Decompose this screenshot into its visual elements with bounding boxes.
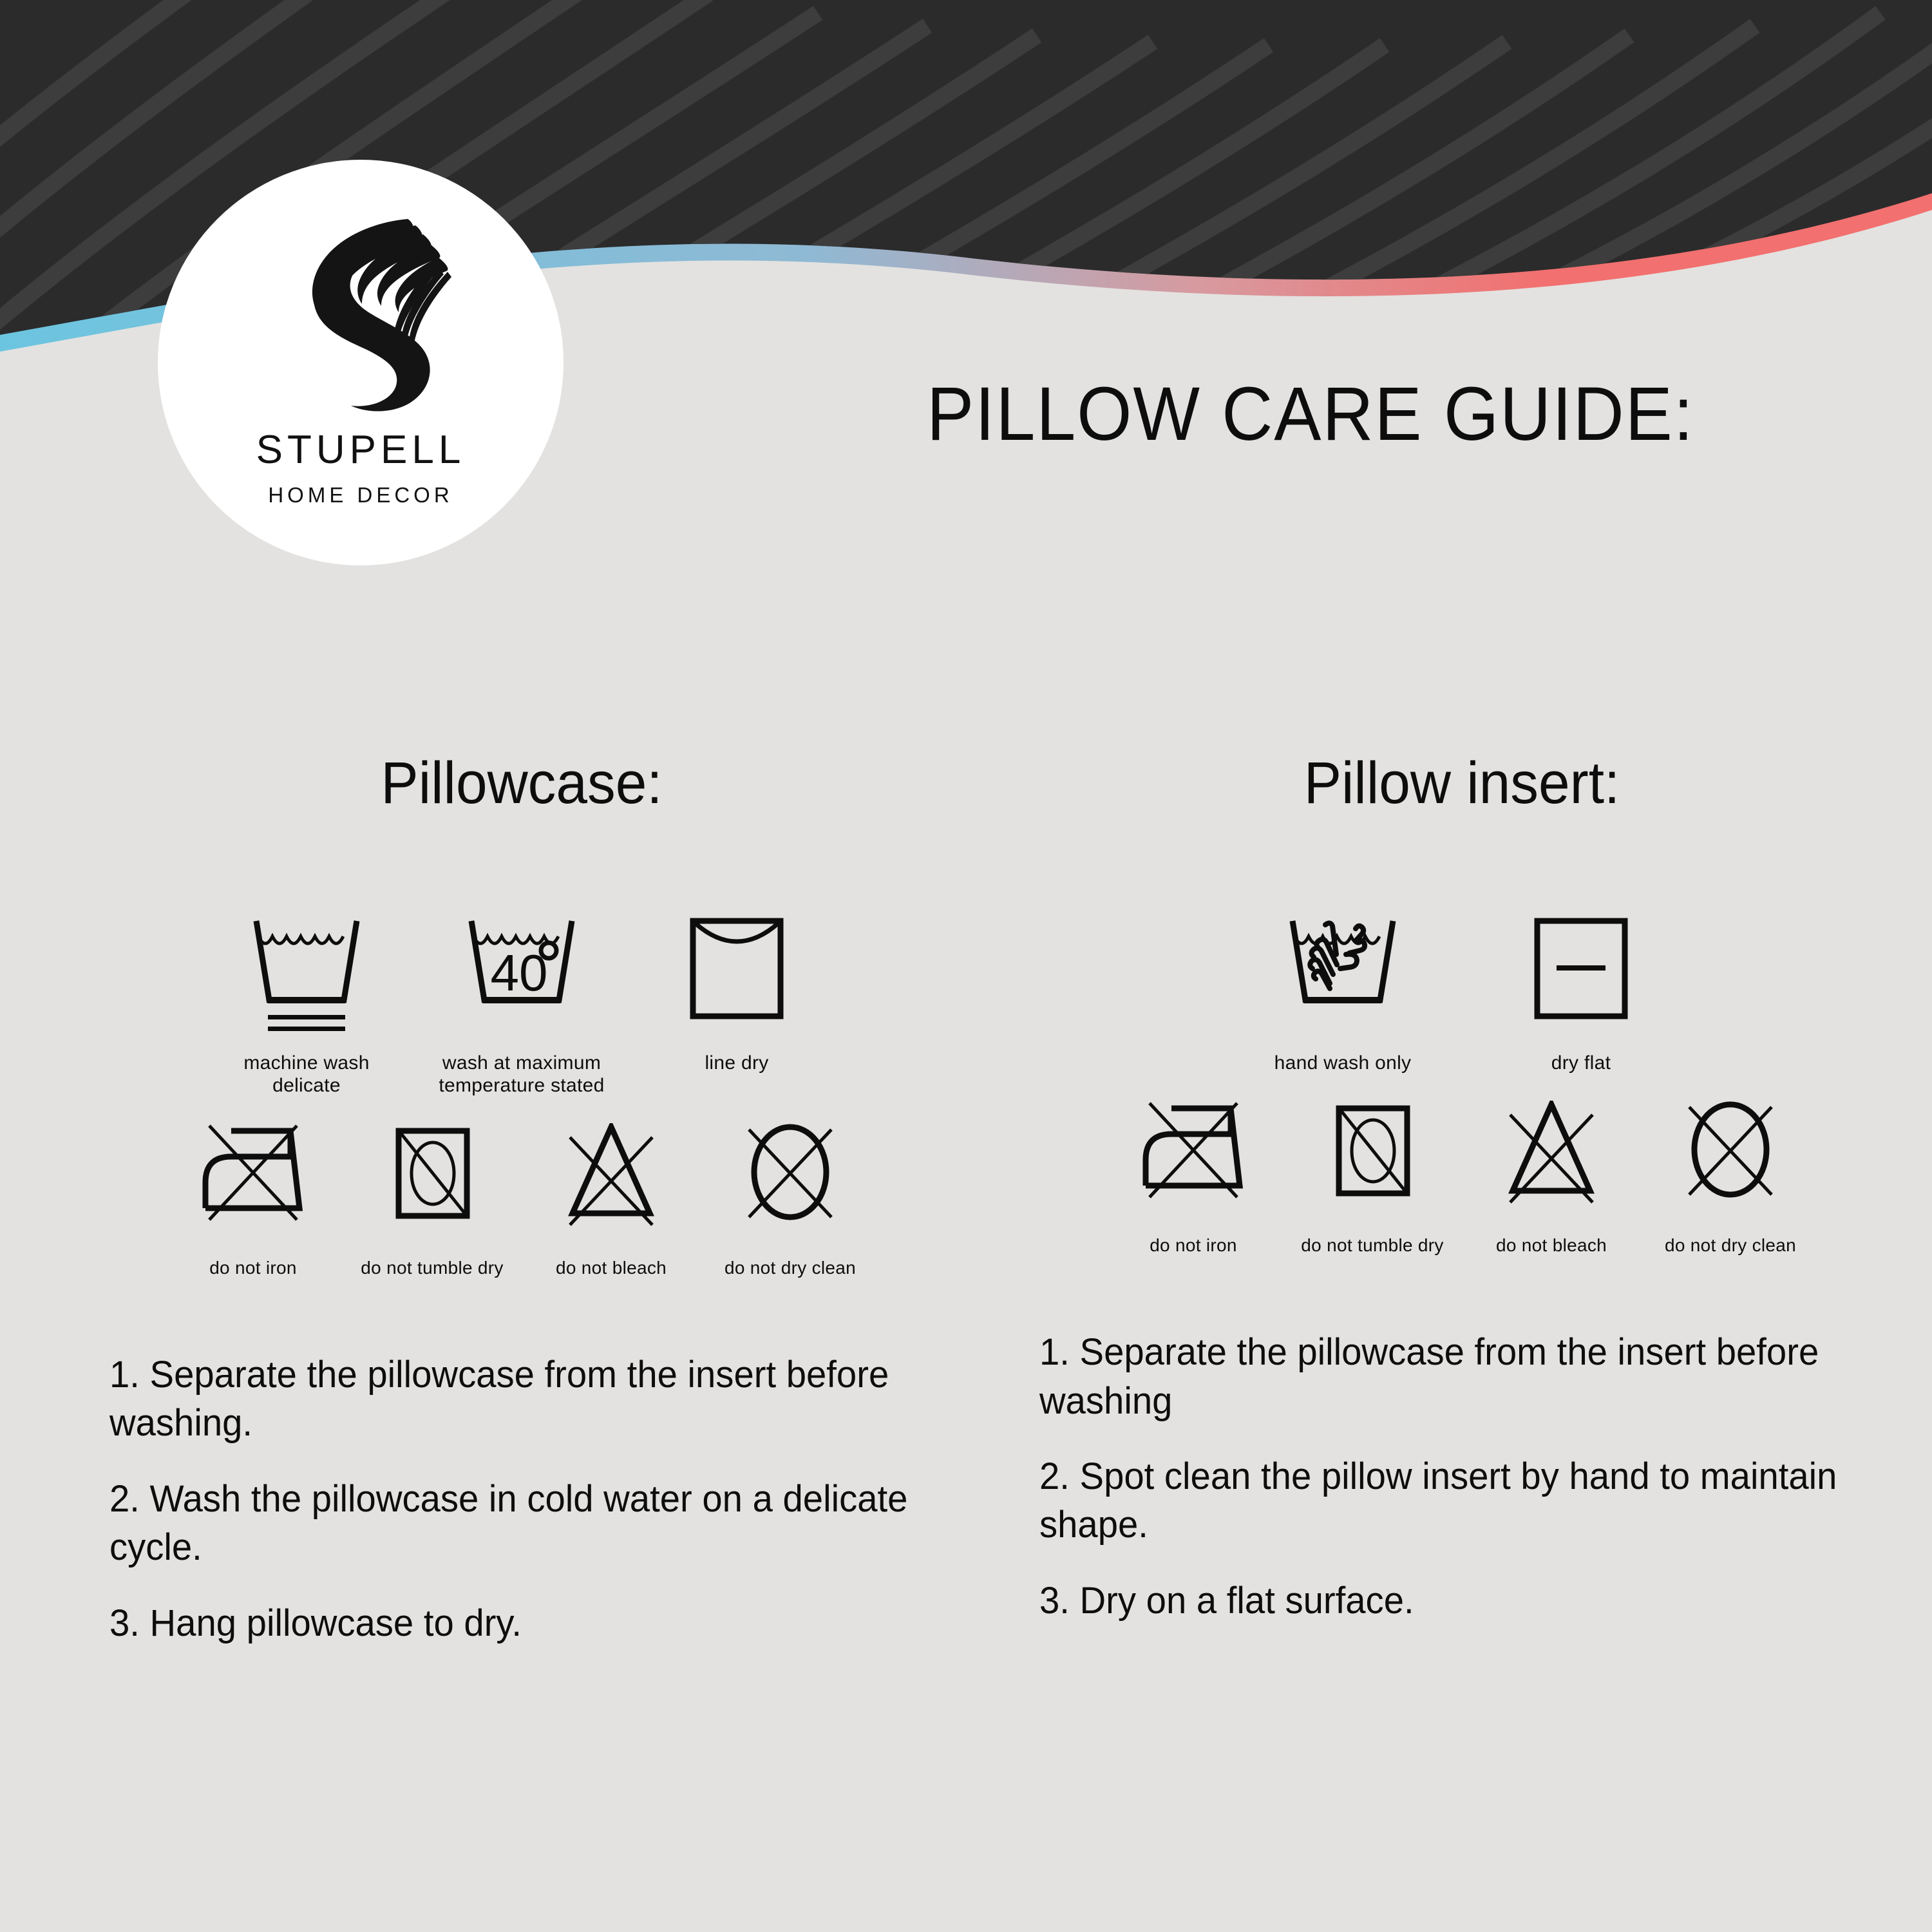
symbol-machine-wash-delicate: machine washdelicate xyxy=(216,914,397,1097)
do-not-dry-clean-icon xyxy=(1671,1101,1790,1226)
do-not-dry-clean-icon xyxy=(731,1123,850,1249)
symbol-caption: do not tumble dry xyxy=(361,1258,503,1278)
pillow-care-guide-page: STUPELL HOME DECOR PILLOW CARE GUIDE: Pi… xyxy=(0,0,1932,1932)
do-not-bleach-icon xyxy=(552,1123,671,1249)
symbol-do-not-tumble-dry: do not tumble dry xyxy=(1292,1101,1453,1256)
brand-wordmark: STUPELL HOME DECOR xyxy=(158,430,563,506)
symbol-caption: do not dry clean xyxy=(724,1258,856,1278)
instruction-item: 2. Wash the pillowcase in cold water on … xyxy=(109,1475,915,1572)
symbol-caption: hand wash only xyxy=(1274,1052,1412,1075)
symbol-row-secondary: do not iron do not tumble dry xyxy=(1030,1101,1893,1256)
instruction-list: 1. Separate the pillowcase from the inse… xyxy=(103,1350,940,1647)
symbol-caption: do not tumble dry xyxy=(1301,1235,1443,1256)
symbol-do-not-dry-clean: do not dry clean xyxy=(1650,1101,1811,1256)
symbol-do-not-iron: do not iron xyxy=(173,1123,334,1278)
brand-logo-badge: STUPELL HOME DECOR xyxy=(158,160,563,565)
symbol-grid: hand wash only dry flat xyxy=(1030,914,1893,1256)
dry-flat-icon xyxy=(1517,914,1645,1043)
brand-tagline: HOME DECOR xyxy=(158,484,563,506)
symbol-caption: do not dry clean xyxy=(1665,1235,1796,1256)
symbol-caption: do not iron xyxy=(209,1258,297,1278)
do-not-bleach-icon xyxy=(1492,1101,1611,1226)
symbol-caption: line dry xyxy=(705,1052,768,1075)
instruction-item: 1. Separate the pillowcase from the inse… xyxy=(1039,1328,1868,1425)
symbol-do-not-bleach: do not bleach xyxy=(531,1123,692,1278)
do-not-iron-icon xyxy=(194,1123,313,1249)
line-dry-icon xyxy=(672,914,801,1043)
symbol-do-not-tumble-dry: do not tumble dry xyxy=(352,1123,513,1278)
symbol-caption: do not iron xyxy=(1150,1235,1237,1256)
brand-name: STUPELL xyxy=(158,430,563,470)
symbol-caption: do not bleach xyxy=(556,1258,667,1278)
stupell-swoosh-logo-icon xyxy=(254,210,467,422)
care-column-pillowcase: Pillowcase: xyxy=(103,753,940,1674)
symbol-row-primary: machine washdelicate 40 xyxy=(103,914,940,1097)
page-title: PILLOW CARE GUIDE: xyxy=(844,370,1778,458)
column-heading: Pillowcase: xyxy=(124,753,920,831)
instruction-list: 1. Separate the pillowcase from the inse… xyxy=(1030,1328,1893,1625)
do-not-iron-icon xyxy=(1134,1101,1253,1226)
do-not-tumble-dry-icon xyxy=(373,1123,492,1249)
symbol-line-dry: line dry xyxy=(647,914,827,1075)
symbol-caption: machine washdelicate xyxy=(243,1052,369,1097)
symbol-do-not-dry-clean: do not dry clean xyxy=(710,1123,871,1278)
symbol-caption: dry flat xyxy=(1551,1052,1611,1075)
symbol-hand-wash-only: hand wash only xyxy=(1253,914,1433,1075)
symbol-wash-40-degrees: 40 wash at maximumtemperature stated xyxy=(431,914,612,1097)
symbol-grid: machine washdelicate 40 xyxy=(103,914,940,1278)
do-not-tumble-dry-icon xyxy=(1313,1101,1432,1226)
symbol-do-not-bleach: do not bleach xyxy=(1471,1101,1632,1256)
column-heading: Pillow insert: xyxy=(1052,753,1872,831)
symbol-dry-flat: dry flat xyxy=(1491,914,1671,1075)
symbol-do-not-iron: do not iron xyxy=(1113,1101,1274,1256)
care-column-pillow-insert: Pillow insert: xyxy=(1030,753,1893,1652)
instruction-item: 3. Dry on a flat surface. xyxy=(1039,1577,1868,1625)
symbol-caption: do not bleach xyxy=(1496,1235,1607,1256)
symbol-caption: wash at maximumtemperature stated xyxy=(439,1052,604,1097)
instruction-item: 1. Separate the pillowcase from the inse… xyxy=(109,1350,915,1448)
symbol-row-primary: hand wash only dry flat xyxy=(1030,914,1893,1075)
symbol-row-secondary: do not iron do not tumble dry xyxy=(103,1123,940,1278)
instruction-item: 3. Hang pillowcase to dry. xyxy=(109,1599,915,1647)
wash-tub-delicate-icon xyxy=(242,914,371,1043)
hand-wash-icon xyxy=(1278,914,1407,1043)
instruction-item: 2. Spot clean the pillow insert by hand … xyxy=(1039,1452,1868,1549)
wash-tub-40-degrees-icon: 40 xyxy=(457,914,586,1043)
